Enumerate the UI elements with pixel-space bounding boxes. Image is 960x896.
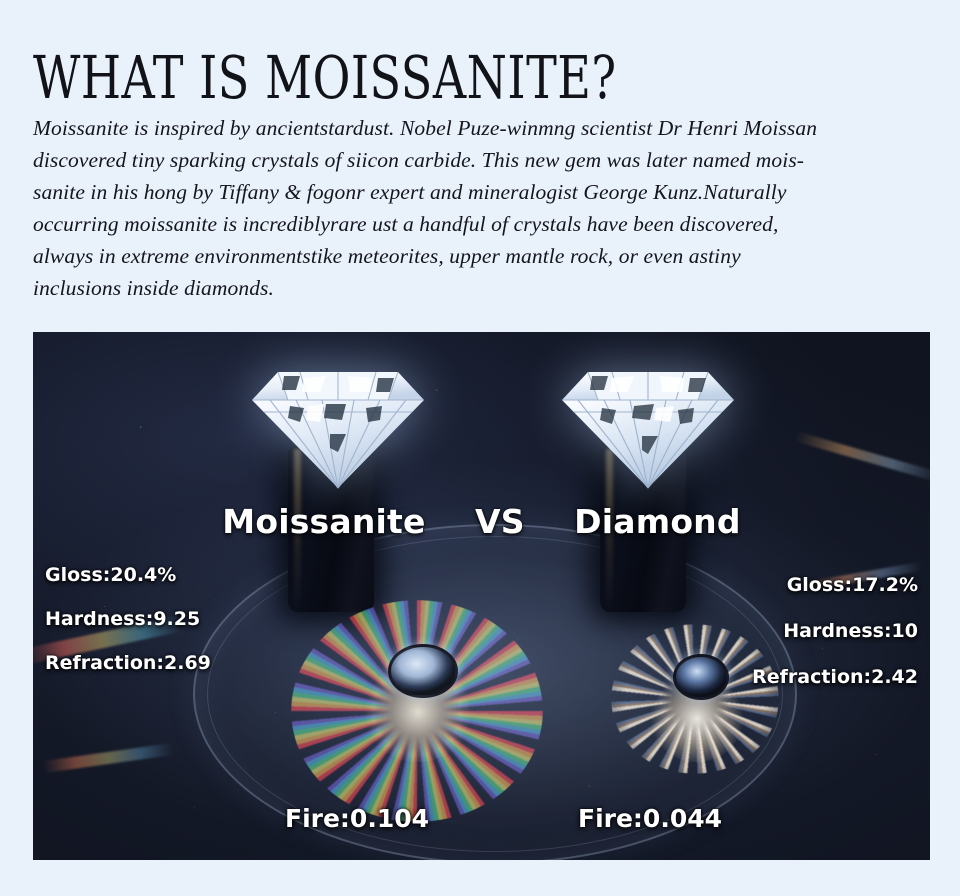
diamond-loose-stone [673, 654, 729, 700]
stat-hardness: Hardness:9.25 [45, 608, 211, 630]
paragraph-line: discovered tiny sparking crystals of sii… [33, 144, 938, 176]
versus-right-label: Diamond [574, 502, 741, 541]
stat-gloss: Gloss:17.2% [752, 574, 918, 596]
versus-left-label: Moissanite [222, 502, 425, 541]
article-page: WHAT IS MOISSANITE? Moissanite is inspir… [0, 0, 960, 896]
lens-flare-streak [795, 432, 930, 483]
paragraph-line: always in extreme environmentstike meteo… [33, 240, 938, 272]
comparison-image: Moissanite VS Diamond Gloss:20.4% Hardne… [33, 332, 930, 860]
diamond-fire-value: Fire:0.044 [578, 804, 722, 833]
diamond-gem-icon [548, 360, 748, 492]
paragraph-line: inclusions inside diamonds. [33, 272, 938, 304]
lens-flare-streak [43, 743, 173, 773]
page-title: WHAT IS MOISSANITE? [33, 48, 897, 111]
intro-paragraph: Moissanite is inspired by ancientstardus… [33, 112, 938, 304]
stat-refraction: Refraction:2.69 [45, 652, 211, 674]
stat-gloss: Gloss:20.4% [45, 564, 211, 586]
moissanite-fire-value: Fire:0.104 [285, 804, 429, 833]
diamond-stats: Gloss:17.2% Hardness:10 Refraction:2.42 [752, 574, 918, 712]
paragraph-line: occurring moissanite is incrediblyrare u… [33, 208, 938, 240]
versus-separator-label: VS [475, 502, 525, 541]
paragraph-line: sanite in his hong by Tiffany & fogonr e… [33, 176, 938, 208]
moissanite-rainbow-burst [291, 600, 543, 822]
versus-title: Moissanite VS Diamond [33, 502, 930, 541]
moissanite-stats: Gloss:20.4% Hardness:9.25 Refraction:2.6… [45, 564, 211, 696]
moissanite-loose-stone [388, 644, 458, 698]
moissanite-gem-icon [238, 360, 438, 492]
paragraph-line: Moissanite is inspired by ancientstardus… [33, 112, 938, 144]
stat-refraction: Refraction:2.42 [752, 666, 918, 688]
stat-hardness: Hardness:10 [752, 620, 918, 642]
